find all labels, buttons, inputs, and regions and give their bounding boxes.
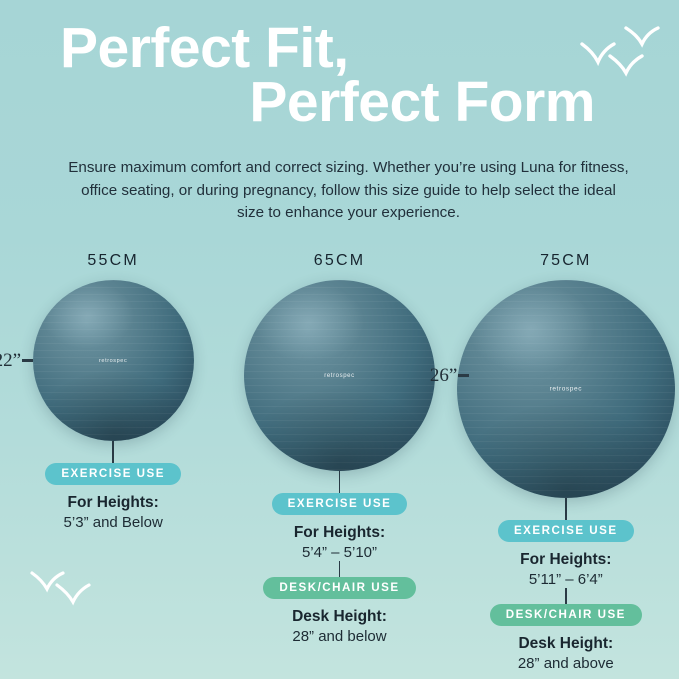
connector-line bbox=[339, 471, 341, 493]
dimension-value-55cm: 22” bbox=[0, 348, 21, 374]
exercise-heading-65cm: For Heights: bbox=[294, 524, 385, 542]
details-75cm: EXERCISE USE For Heights: 5’11” – 6’4” D… bbox=[490, 498, 642, 672]
desk-value-75cm: 28” and above bbox=[518, 655, 614, 672]
desk-value-65cm: 28” and below bbox=[292, 628, 386, 645]
details-65cm: EXERCISE USE For Heights: 5’4” – 5’10” D… bbox=[263, 471, 415, 645]
ball-area-55cm: 22” retrospec bbox=[0, 280, 226, 441]
size-column-55cm: 55CM 22” retrospec EXERCISE USE For Heig… bbox=[0, 252, 226, 672]
badge-exercise-use-65cm: EXERCISE USE bbox=[272, 493, 408, 515]
size-column-65cm: 65CM 26” retrospec EXERCISE USE For Heig… bbox=[226, 252, 452, 672]
desk-heading-75cm: Desk Height: bbox=[518, 635, 613, 653]
exercise-heading-75cm: For Heights: bbox=[520, 551, 611, 569]
dimension-indicator-55cm: 22” bbox=[22, 275, 33, 447]
exercise-value-75cm: 5’11” – 6’4” bbox=[529, 571, 603, 588]
page-title: Perfect Fit, Perfect Form bbox=[60, 22, 637, 129]
dimension-cap-bottom bbox=[458, 376, 469, 377]
size-column-75cm: 75CM 30” retrospec EXERCISE USE For Heig… bbox=[453, 252, 679, 672]
connector-line-secondary bbox=[339, 561, 341, 577]
exercise-heading-55cm: For Heights: bbox=[68, 494, 159, 512]
dimension-bar bbox=[458, 374, 469, 377]
size-label-65cm: 65CM bbox=[314, 252, 365, 270]
badge-desk-chair-use-65cm: DESK/CHAIR USE bbox=[263, 577, 415, 599]
ball-brand-logo: retrospec bbox=[550, 386, 583, 393]
title-line-1: Perfect Fit, bbox=[60, 22, 637, 76]
size-label-75cm: 75CM bbox=[540, 252, 591, 270]
dimension-bar bbox=[22, 359, 33, 362]
badge-exercise-use-75cm: EXERCISE USE bbox=[498, 520, 634, 542]
exercise-ball-55cm: retrospec bbox=[33, 280, 194, 441]
badge-desk-chair-use-75cm: DESK/CHAIR USE bbox=[490, 604, 642, 626]
dimension-indicator-65cm: 26” bbox=[458, 276, 469, 476]
ball-area-65cm: 26” retrospec bbox=[226, 280, 452, 471]
dimension-value-65cm: 26” bbox=[430, 363, 457, 389]
exercise-value-55cm: 5’3” and Below bbox=[64, 514, 163, 531]
details-55cm: EXERCISE USE For Heights: 5’3” and Below bbox=[45, 441, 181, 531]
ball-brand-logo: retrospec bbox=[324, 373, 354, 379]
ball-area-75cm: 30” retrospec bbox=[453, 280, 679, 498]
connector-line bbox=[565, 498, 567, 520]
title-line-2: Perfect Form bbox=[60, 76, 637, 130]
exercise-ball-75cm: retrospec bbox=[457, 280, 675, 498]
exercise-ball-65cm: retrospec bbox=[244, 280, 435, 471]
desk-heading-65cm: Desk Height: bbox=[292, 608, 387, 626]
exercise-value-65cm: 5’4” – 5’10” bbox=[302, 544, 377, 561]
connector-line-secondary bbox=[565, 588, 567, 604]
ball-brand-logo: retrospec bbox=[99, 358, 127, 364]
header: Perfect Fit, Perfect Form Ensure maximum… bbox=[0, 0, 679, 224]
size-guide-columns: 55CM 22” retrospec EXERCISE USE For Heig… bbox=[0, 252, 679, 672]
connector-line bbox=[112, 441, 114, 463]
size-label-55cm: 55CM bbox=[87, 252, 138, 270]
dimension-cap-bottom bbox=[22, 361, 33, 362]
badge-exercise-use-55cm: EXERCISE USE bbox=[45, 463, 181, 485]
subtitle: Ensure maximum comfort and correct sizin… bbox=[66, 157, 631, 224]
